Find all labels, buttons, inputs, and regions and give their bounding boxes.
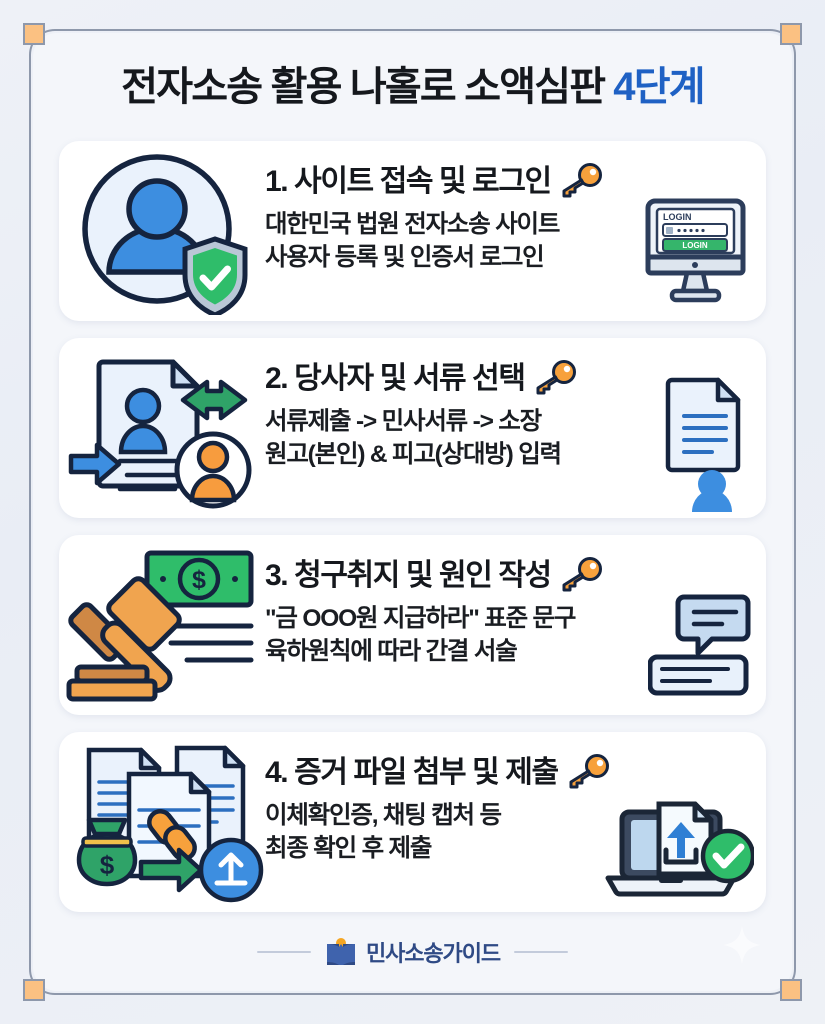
step-line-3-1: "금 OOO원 지급하라" 표준 문구 [265, 602, 752, 635]
step-body-2: 2. 당사자 및 서류 선택 서류제출 -> 민사서류 -> 소장 원고(본인)… [265, 344, 752, 512]
steps-list: 1. 사이트 접속 및 로그인 대한민국 법원 전자소송 사이트 사용자 등록 … [59, 141, 766, 912]
content-area: 전자소송 활용 나홀로 소액심판4단계 [33, 33, 792, 991]
svg-text:$: $ [100, 850, 115, 880]
step-heading-text-4: 4. 증거 파일 첨부 및 제출 [265, 756, 558, 789]
step-line-3-2: 육하원칙에 따라 간결 서술 [265, 635, 752, 668]
step-heading-text-3: 3. 청구취지 및 원인 작성 [265, 559, 551, 592]
infographic-page: 전자소송 활용 나홀로 소액심판4단계 [0, 0, 825, 1024]
step-body-1: 1. 사이트 접속 및 로그인 대한민국 법원 전자소송 사이트 사용자 등록 … [265, 147, 752, 315]
book-person-logo-icon [325, 937, 357, 967]
page-title-accent: 4단계 [613, 65, 703, 109]
footer-rule-right [514, 951, 568, 953]
step-heading-4: 4. 증거 파일 첨부 및 제출 [265, 754, 752, 790]
step-line-4-1: 이체확인증, 채팅 캡처 등 [265, 799, 752, 832]
step-card-2: 2. 당사자 및 서류 선택 서류제출 -> 민사서류 -> 소장 원고(본인)… [59, 338, 766, 518]
step-heading-text-1: 1. 사이트 접속 및 로그인 [265, 165, 551, 198]
step-line-2-2: 원고(본인) & 피고(상대방) 입력 [265, 438, 752, 471]
step-heading-1: 1. 사이트 접속 및 로그인 [265, 163, 752, 199]
step-card-4: $ 4. 증거 파일 첨부 및 제출 [59, 732, 766, 912]
user-shield-icon [65, 147, 265, 315]
page-title-main: 전자소송 활용 나홀로 소액심판 [121, 65, 604, 109]
document-parties-exchange-icon [65, 344, 265, 512]
step-heading-text-2: 2. 당사자 및 서류 선택 [265, 362, 525, 395]
step-body-3: 3. 청구취지 및 원인 작성 "금 OOO원 지급하라" 표준 문구 육하원칙… [265, 541, 752, 709]
step-description-1: 대한민국 법원 전자소송 사이트 사용자 등록 및 인증서 로그인 [265, 208, 752, 275]
step-heading-3: 3. 청구취지 및 원인 작성 [265, 557, 752, 593]
step-description-3: "금 OOO원 지급하라" 표준 문구 육하원칙에 따라 간결 서술 [265, 602, 752, 669]
step-line-1-1: 대한민국 법원 전자소송 사이트 [265, 208, 752, 241]
step-line-2-1: 서류제출 -> 민사서류 -> 소장 [265, 405, 752, 438]
footer-brand-text: 민사소송가이드 [366, 936, 500, 968]
key-icon [566, 754, 610, 790]
key-icon [533, 360, 577, 396]
step-card-1: 1. 사이트 접속 및 로그인 대한민국 법원 전자소송 사이트 사용자 등록 … [59, 141, 766, 321]
step-line-4-2: 최종 확인 후 제출 [265, 832, 752, 865]
gavel-money-icon: $ [65, 541, 265, 709]
step-description-4: 이체확인증, 채팅 캡처 등 최종 확인 후 제출 [265, 799, 752, 866]
footer: 민사소송가이드 [59, 912, 766, 991]
step-card-3: $ [59, 535, 766, 715]
page-title: 전자소송 활용 나홀로 소액심판4단계 [59, 33, 766, 141]
footer-brand: 민사소송가이드 [325, 936, 500, 968]
step-body-4: 4. 증거 파일 첨부 및 제출 이체확인증, 채팅 캡처 등 최종 확인 후 … [265, 738, 752, 906]
step-heading-2: 2. 당사자 및 서류 선택 [265, 360, 752, 396]
step-description-2: 서류제출 -> 민사서류 -> 소장 원고(본인) & 피고(상대방) 입력 [265, 405, 752, 472]
footer-rule-left [257, 951, 311, 953]
key-icon [559, 557, 603, 593]
key-icon [559, 163, 603, 199]
step-line-1-2: 사용자 등록 및 인증서 로그인 [265, 241, 752, 274]
documents-attachment-upload-icon: $ [65, 738, 265, 906]
svg-text:$: $ [192, 566, 206, 594]
